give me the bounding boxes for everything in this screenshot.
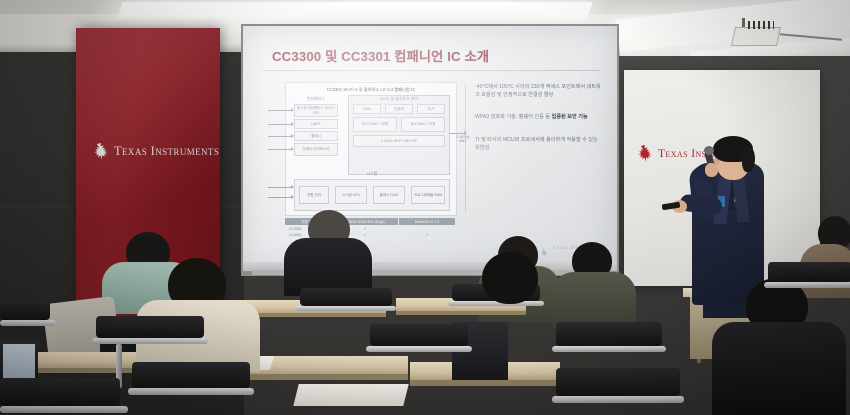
- diagram-title: CC3301 Wi-Fi 6 및 블루투스 LE 5.3 컴패니언 IC: [286, 87, 456, 93]
- bullet-text: -40°C에서 105°C 사이의 230개 액세스 포인트에서 네트워크 효율…: [475, 84, 601, 98]
- table-header-cell: Bluetooth LE 5.3: [399, 218, 455, 225]
- diagram-system-group: 시스템 전원 관리 시스템 CPU 플래시 RAM 프로그래머블 RAM: [294, 179, 450, 211]
- diagram-block: 2.4GHz Wi-Fi / BLE RF: [353, 135, 445, 147]
- diagram-block: 플래시 RAM: [373, 186, 405, 204]
- slide-bullet-list: -40°C에서 105°C 사이의 230개 액세스 포인트에서 네트워크 효율…: [475, 84, 601, 168]
- attendee-head: [482, 252, 538, 304]
- handout-paper: [293, 384, 408, 406]
- projection-screen: CC3300 및 CC3301 컴패니언 IC 소개 CC3301 Wi-Fi …: [243, 26, 617, 270]
- seminar-room-photo: Texas Instruments Texas Instruments CC33…: [0, 0, 850, 415]
- diagram-arrow: [268, 197, 292, 198]
- diagram-block: Wi-Fi MAC / 모뎀: [353, 117, 397, 132]
- diagram-block: 안테나 다이버시티: [294, 143, 338, 156]
- conference-chair: [768, 262, 850, 282]
- chair-frame: [0, 406, 128, 413]
- diagram-block: UART: [294, 119, 338, 129]
- conference-chair: [370, 324, 468, 346]
- chair-frame: [0, 320, 56, 326]
- slide-bullet: -40°C에서 105°C 사이의 230개 액세스 포인트에서 네트워크 효율…: [475, 84, 601, 99]
- diagram-block: BLE MAC / 모뎀: [401, 117, 445, 132]
- projector-hardware: [748, 21, 774, 29]
- diagram-block: CLP: [417, 104, 445, 114]
- list-item: [552, 272, 636, 328]
- diagram-block: 프로그래머블 RAM: [411, 186, 445, 204]
- conference-chair: [556, 322, 662, 346]
- diagram-block: DMA: [353, 104, 381, 114]
- conference-chair: [0, 378, 120, 406]
- diagram-arrow: [268, 124, 292, 125]
- slide-bullet: TI 및 타사의 MCU와 프로세서에 용이하게 적용할 수 있는 유연성: [475, 137, 601, 152]
- diagram-interface-label: 인터페이스: [290, 97, 342, 102]
- chair-frame: [764, 282, 850, 288]
- slide-title: CC3300 및 CC3301 컴패니언 IC 소개: [272, 46, 489, 65]
- presentation-slide: CC3300 및 CC3301 컴패니언 IC 소개 CC3301 Wi-Fi …: [243, 26, 617, 270]
- conference-chair: [556, 368, 680, 396]
- slide-title-rule: [263, 70, 601, 71]
- microphone-head: [704, 146, 714, 155]
- table-cell: ✓: [399, 233, 455, 237]
- ceiling-projector-icon: [731, 27, 781, 46]
- diagram-rf-arrow: [449, 133, 465, 134]
- diagram-arrow: [268, 149, 292, 150]
- diagram-block: 암호화: [385, 104, 413, 114]
- bullet-emphasis: 입증된 보안 기능: [552, 114, 588, 120]
- bullet-text: WPA3 암호화 기술, 펌웨어 인증 등: [475, 114, 552, 120]
- conference-chair: [132, 362, 250, 388]
- diagram-arrow: [268, 187, 292, 188]
- list-item: [712, 322, 846, 415]
- diagram-core-group: Wi-Fi 및 블루투스 코어 DMA 암호화 CLP Wi-Fi MAC / …: [348, 95, 450, 175]
- ti-logo-lockup: Texas Instruments: [94, 143, 219, 160]
- diagram-block: 전원 관리: [299, 186, 329, 204]
- conference-chair: [300, 288, 392, 306]
- texas-instruments-logo-icon: [94, 143, 109, 160]
- texas-instruments-logo-icon: [541, 244, 548, 252]
- desk-edge: [410, 380, 560, 386]
- speaker-hand: [705, 163, 718, 177]
- conference-chair: [96, 316, 204, 338]
- chair-frame: [552, 396, 684, 403]
- chair-frame: [296, 306, 396, 311]
- texas-instruments-logo-icon: [638, 145, 653, 162]
- chair-frame: [128, 388, 254, 395]
- slide-column-divider: [465, 84, 466, 212]
- bullet-text: TI 및 타사의 MCU와 프로세서에 용이하게 적용할 수 있는 유연성: [475, 137, 598, 151]
- desk-edge: [396, 311, 526, 315]
- slide-bullet: WPA3 암호화 기술, 펌웨어 인증 등 입증된 보안 기능: [475, 114, 601, 122]
- block-diagram: CC3301 Wi-Fi 6 및 블루투스 LE 5.3 컴패니언 IC 인터페…: [285, 82, 457, 216]
- conference-chair: [0, 300, 50, 320]
- diagram-arrow: [268, 110, 292, 111]
- ti-wordmark: Texas Instruments: [114, 144, 219, 159]
- diagram-arrow: [268, 136, 292, 137]
- recessed-light-panel: [117, 2, 593, 19]
- speaker-hair: [742, 146, 755, 172]
- chair-frame: [366, 346, 472, 352]
- diagram-block: 호스트 인터페이스 SDIO / SPI: [294, 104, 338, 117]
- chair-frame: [552, 346, 666, 352]
- chair-frame: [92, 338, 208, 344]
- diagram-block: 플래시: [294, 131, 338, 141]
- diagram-block: 시스템 CPU: [335, 186, 367, 204]
- diagram-core-label: Wi-Fi 및 블루투스 코어: [349, 97, 449, 102]
- diagram-rf-label: 2.4GHz ANT: [452, 135, 474, 143]
- diagram-system-label: 시스템: [295, 172, 449, 177]
